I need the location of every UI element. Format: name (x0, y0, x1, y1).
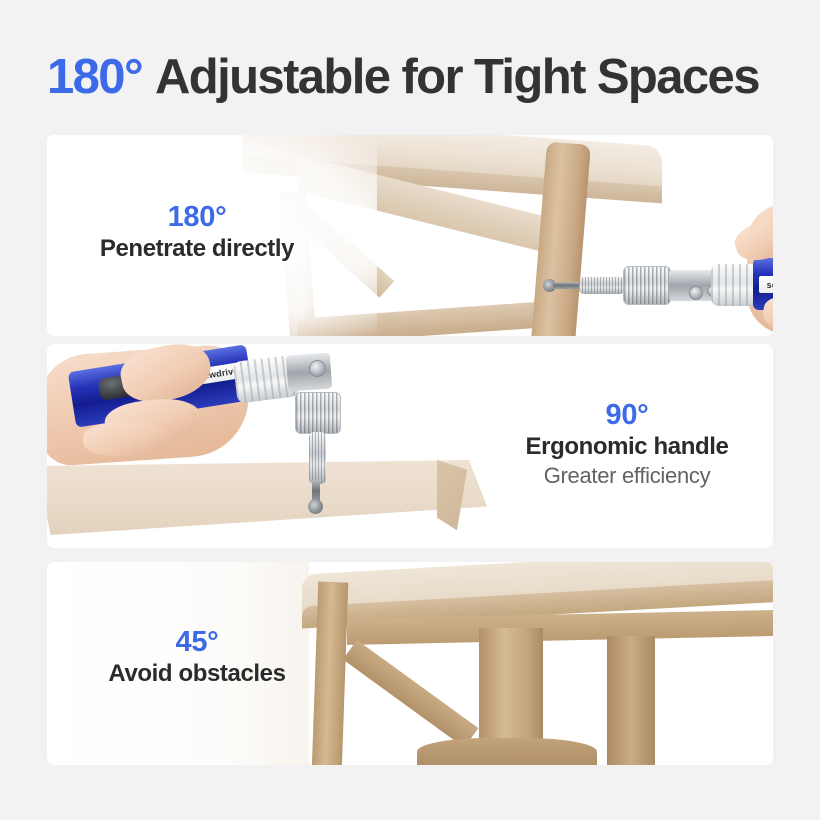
table-brace (343, 640, 478, 748)
wood-board (47, 460, 487, 535)
table-leg-right (607, 636, 655, 765)
page-title-text: Adjustable for Tight Spaces (155, 53, 759, 102)
caption-primary-45: Avoid obstacles (52, 659, 342, 689)
page-title-angle: 180° (47, 53, 142, 102)
tool-chuck-collar (623, 266, 671, 305)
tool-chuck-collar (295, 392, 341, 434)
table-foot (417, 738, 597, 765)
joint-pivot-screw (689, 286, 703, 300)
tool-grip-sleeve (711, 264, 759, 306)
caption-90: 90° Ergonomic handle Greater efficiency (482, 398, 772, 491)
driver-bit (553, 282, 581, 289)
caption-45: 45° Avoid obstacles (52, 625, 342, 689)
page-title: 180° Adjustable for Tight Spaces (47, 46, 773, 108)
caption-180: 180° Penetrate directly (52, 200, 342, 264)
joint-pivot-screw (309, 360, 326, 377)
tool-shaft (579, 277, 625, 294)
screw-icon (308, 499, 323, 514)
tool-shaft (309, 432, 326, 484)
caption-angle-45: 45° (52, 625, 342, 659)
tool-brand-label: screwdriver (759, 276, 773, 293)
caption-primary-90: Ergonomic handle (482, 432, 772, 462)
caption-secondary-90: Greater efficiency (482, 462, 772, 491)
caption-primary-180: Penetrate directly (52, 234, 342, 264)
caption-angle-180: 180° (52, 200, 342, 234)
caption-angle-90: 90° (482, 398, 772, 432)
